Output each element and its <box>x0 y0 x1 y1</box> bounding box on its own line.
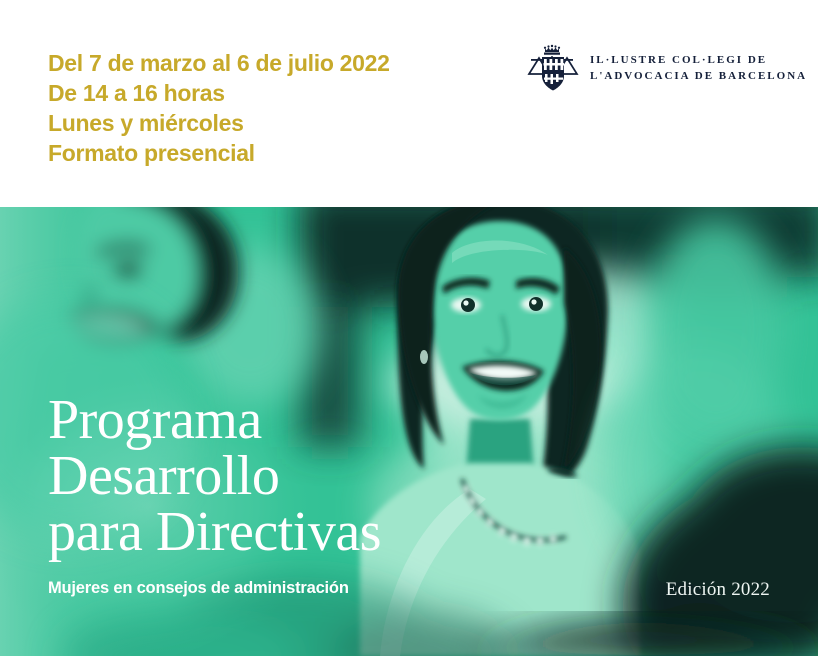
logo-line-1: IL·LUSTRE COL·LEGI DE <box>590 52 807 68</box>
edition-label: Edición 2022 <box>666 579 770 601</box>
schedule-line-days: Lunes y miércoles <box>48 108 390 138</box>
crest-icon <box>527 43 579 93</box>
poster-root: Del 7 de marzo al 6 de julio 2022 De 14 … <box>0 0 818 658</box>
poster-subtitle: Mujeres en consejos de administración <box>48 579 349 598</box>
hero-photo: Programa Desarrollo para Directivas Muje… <box>0 207 818 656</box>
header-band: Del 7 de marzo al 6 de julio 2022 De 14 … <box>0 0 818 207</box>
page-title: Programa Desarrollo para Directivas <box>48 392 381 560</box>
title-line-2: Desarrollo <box>48 448 381 504</box>
schedule-line-format: Formato presencial <box>48 138 390 168</box>
logo-wordmark: IL·LUSTRE COL·LEGI DE L'ADVOCACIA DE BAR… <box>590 52 807 84</box>
title-line-1: Programa <box>48 392 381 448</box>
organization-logo: IL·LUSTRE COL·LEGI DE L'ADVOCACIA DE BAR… <box>527 42 779 94</box>
poster-title-block: Programa Desarrollo para Directivas <box>48 392 381 560</box>
schedule-line-dates: Del 7 de marzo al 6 de julio 2022 <box>48 48 390 78</box>
course-schedule-text: Del 7 de marzo al 6 de julio 2022 De 14 … <box>48 48 390 168</box>
logo-line-2: L'ADVOCACIA DE BARCELONA <box>590 68 807 84</box>
schedule-line-hours: De 14 a 16 horas <box>48 78 390 108</box>
title-line-3: para Directivas <box>48 504 381 560</box>
